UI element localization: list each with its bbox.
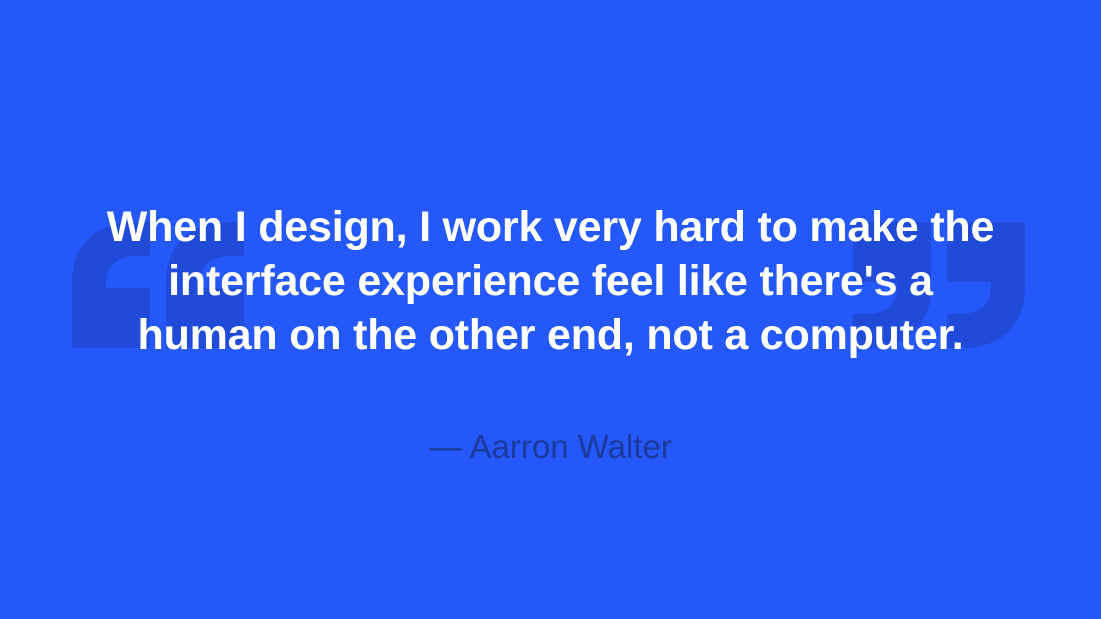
slide-content: When I design, I work very hard to make … <box>0 0 1101 619</box>
quote-text: When I design, I work very hard to make … <box>101 200 1001 362</box>
quote-line-1: When I design, I work very hard to make … <box>101 200 1001 254</box>
quote-line-3: human on the other end, not a computer. <box>101 308 1001 362</box>
quote-line-2: interface experience feel like there's a <box>101 254 1001 308</box>
quote-slide: When I design, I work very hard to make … <box>0 0 1101 619</box>
quote-attribution: — Aarron Walter <box>429 427 672 467</box>
